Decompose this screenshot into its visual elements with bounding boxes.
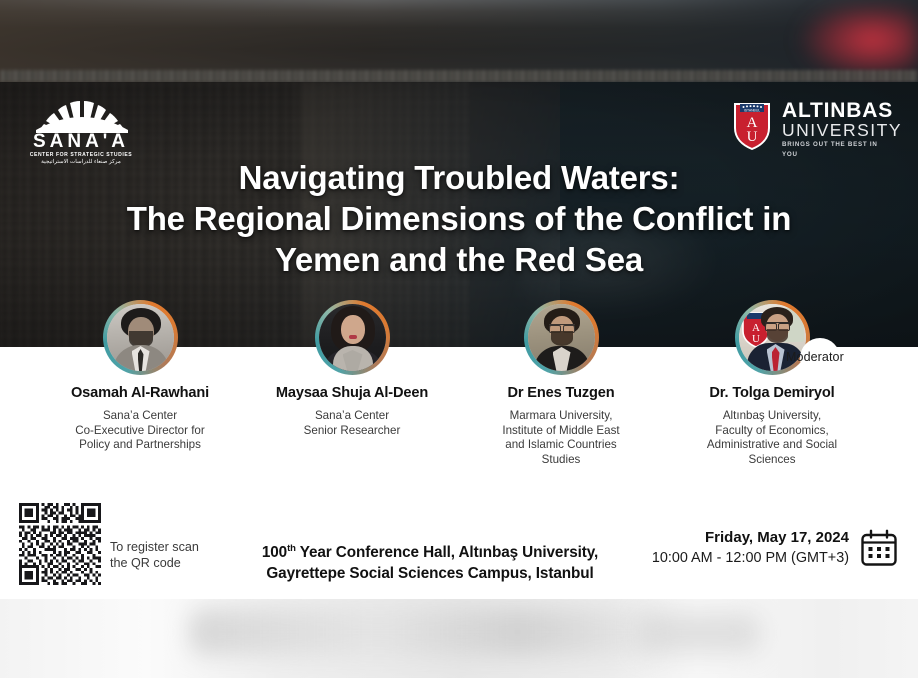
svg-text:ISTANBUL: ISTANBUL [744, 109, 760, 113]
svg-text:U: U [752, 333, 760, 345]
avatar [524, 300, 599, 375]
venue-ordinal-suffix: th [287, 543, 296, 554]
moderator-badge-label: Moderator [786, 350, 882, 364]
event-poster: SANA'A CENTER FOR STRATEGIC STUDIES مركز… [0, 0, 918, 678]
altinbas-university-logo: ISTANBUL A U ALTINBAS UNIVERSITY BRINGS … [720, 98, 894, 154]
altinbas-line2: UNIVERSITY [782, 121, 894, 140]
speaker-name: Maysaa Shuja Al-Deen [248, 384, 456, 402]
speaker-affiliation: Sana’a CenterSenior Researcher [248, 409, 456, 438]
speaker-name: Dr Enes Tuzgen [457, 384, 665, 402]
speaker-card: A U Moderator Dr. Tolga Demiryol Altınba… [668, 300, 876, 467]
event-title: Navigating Troubled Waters: The Regional… [0, 158, 918, 280]
event-title-line2: The Regional Dimensions of the Conflict … [0, 198, 918, 239]
venue-line1-rest: Year Conference Hall, Altınbaş Universit… [296, 544, 598, 561]
avatar [315, 300, 390, 375]
venue-line1: 100th Year Conference Hall, Altınbaş Uni… [205, 538, 655, 563]
speaker-name: Osamah Al-Rawhani [36, 384, 244, 402]
qr-code-icon[interactable] [19, 503, 101, 585]
schedule-date: Friday, May 17, 2024 [652, 528, 849, 548]
speaker-card: Osamah Al-Rawhani Sana’a CenterCo-Execut… [36, 300, 244, 453]
sanaa-center-logo: SANA'A CENTER FOR STRATEGIC STUDIES مركز… [22, 95, 140, 167]
speaker-card: Dr Enes Tuzgen Marmara University,Instit… [457, 300, 665, 467]
altinbas-line1: ALTINBAS [782, 100, 894, 121]
speaker-name: Dr. Tolga Demiryol [668, 384, 876, 402]
top-blur-band [0, 0, 918, 82]
speaker-card: Maysaa Shuja Al-Deen Sana’a CenterSenior… [248, 300, 456, 438]
venue-line2: Gayrettepe Social Sciences Campus, Istan… [205, 563, 655, 584]
event-title-line1: Navigating Troubled Waters: [0, 158, 918, 198]
open-book-fan-icon [36, 95, 128, 133]
bottom-blur-band [0, 595, 918, 678]
speaker-affiliation: Marmara University,Institute of Middle E… [457, 409, 665, 467]
speaker-affiliation: Sana’a CenterCo-Executive Director forPo… [36, 409, 244, 453]
event-title-line3: Yemen and the Red Sea [0, 239, 918, 280]
speaker-photo-maysaa [319, 304, 386, 371]
altinbas-tagline: BRINGS OUT THE BEST IN YOU [782, 140, 894, 160]
venue-info: 100th Year Conference Hall, Altınbaş Uni… [205, 538, 655, 584]
altinbas-shield-icon: ISTANBUL A U [732, 100, 772, 150]
altinbas-wordmark: ALTINBAS UNIVERSITY BRINGS OUT THE BEST … [782, 100, 894, 160]
speaker-photo-osamah [107, 304, 174, 371]
schedule-info: Friday, May 17, 2024 10:00 AM - 12:00 PM… [652, 528, 898, 568]
schedule-text: Friday, May 17, 2024 10:00 AM - 12:00 PM… [652, 528, 849, 568]
top-red-glow [798, 6, 918, 80]
speaker-list: Osamah Al-Rawhani Sana’a CenterCo-Execut… [0, 300, 918, 500]
venue-number: 100 [262, 544, 287, 561]
qr-instruction-label: To register scanthe QR code [110, 539, 199, 571]
schedule-time: 10:00 AM - 12:00 PM (GMT+3) [652, 548, 849, 568]
calendar-icon [860, 529, 898, 567]
sanaa-wordmark: SANA'A [22, 131, 140, 152]
avatar [103, 300, 178, 375]
bottom-blur-blob-2 [640, 613, 760, 653]
bottom-band-edge [0, 595, 918, 599]
bottom-blur-blob [190, 609, 660, 655]
svg-text:U: U [747, 129, 758, 145]
top-skyline-texture [0, 70, 918, 82]
moderator-badge: Moderator [786, 342, 882, 376]
speaker-affiliation: Altınbaş University,Faculty of Economics… [668, 409, 876, 467]
speaker-photo-enes [528, 304, 595, 371]
